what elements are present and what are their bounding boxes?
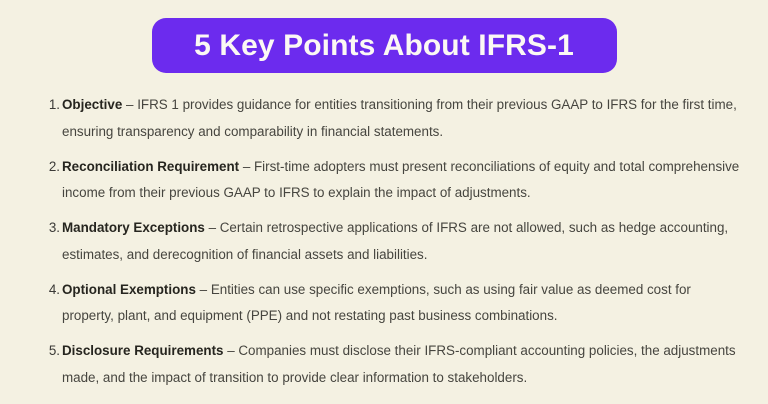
list-item-separator: –	[239, 159, 254, 174]
list-item-separator: –	[224, 343, 239, 358]
list-item: 4.Optional Exemptions – Entities can use…	[40, 277, 740, 330]
list-item-term: Optional Exemptions	[62, 282, 196, 297]
list-item-body: Objective – IFRS 1 provides guidance for…	[60, 92, 740, 145]
list-item-body: Optional Exemptions – Entities can use s…	[60, 277, 740, 330]
list-item-number: 5.	[40, 338, 60, 365]
list-item-number: 4.	[40, 277, 60, 304]
title-badge: 5 Key Points About IFRS-1	[152, 18, 617, 73]
page-title: 5 Key Points About IFRS-1	[194, 31, 574, 61]
list-item-separator: –	[122, 97, 137, 112]
title-container: 5 Key Points About IFRS-1	[0, 18, 768, 73]
list-item: 2.Reconciliation Requirement – First-tim…	[40, 154, 740, 207]
list-item-text: IFRS 1 provides guidance for entities tr…	[62, 97, 737, 139]
list-item-separator: –	[205, 220, 220, 235]
list-item-body: Disclosure Requirements – Companies must…	[60, 338, 740, 391]
list-item-number: 1.	[40, 92, 60, 119]
slide-canvas: 5 Key Points About IFRS-1 1.Objective – …	[0, 0, 768, 404]
list-item-number: 3.	[40, 215, 60, 242]
list-item: 3.Mandatory Exceptions – Certain retrosp…	[40, 215, 740, 268]
list-item-term: Mandatory Exceptions	[62, 220, 205, 235]
list-item-term: Disclosure Requirements	[62, 343, 224, 358]
list-item-body: Reconciliation Requirement – First-time …	[60, 154, 740, 207]
key-points-list: 1.Objective – IFRS 1 provides guidance f…	[40, 92, 740, 400]
list-item: 1.Objective – IFRS 1 provides guidance f…	[40, 92, 740, 145]
list-item-body: Mandatory Exceptions – Certain retrospec…	[60, 215, 740, 268]
list-item-number: 2.	[40, 154, 60, 181]
list-item: 5.Disclosure Requirements – Companies mu…	[40, 338, 740, 391]
list-item-term: Reconciliation Requirement	[62, 159, 239, 174]
list-item-term: Objective	[62, 97, 122, 112]
list-item-separator: –	[196, 282, 211, 297]
